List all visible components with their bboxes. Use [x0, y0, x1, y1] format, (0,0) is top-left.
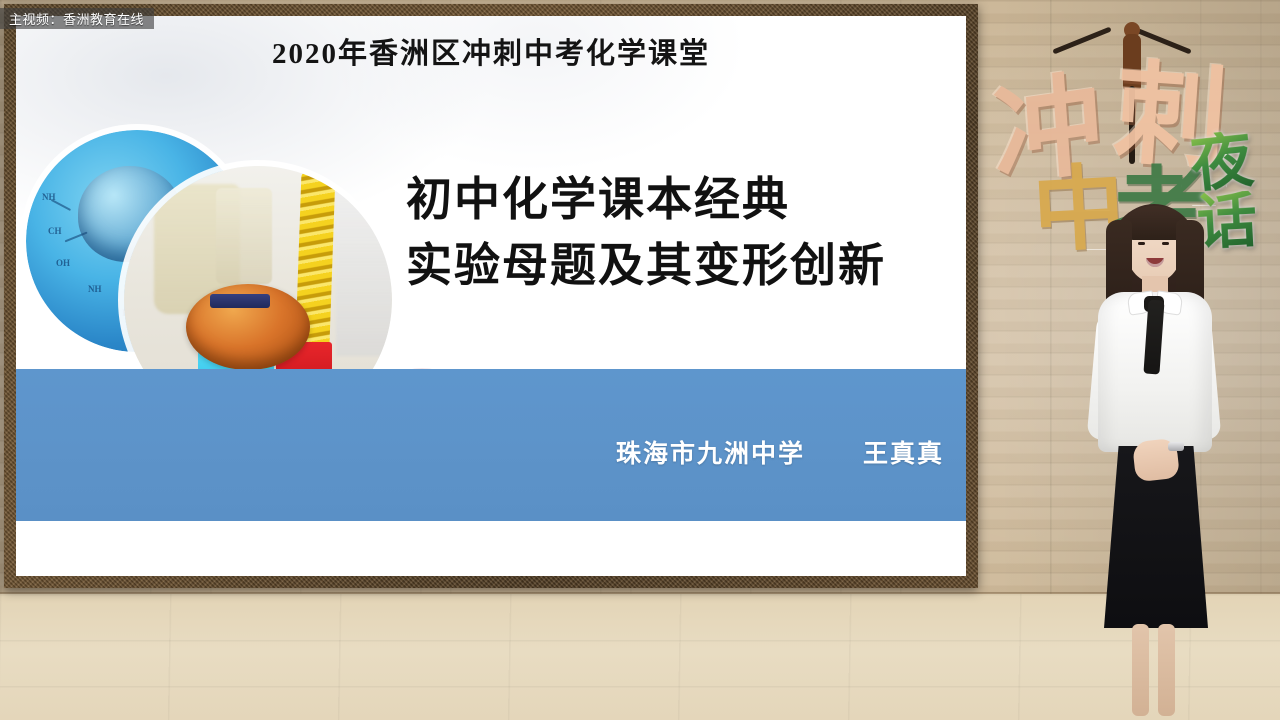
slide-presenter-name: 王真真 — [863, 441, 944, 468]
video-frame: 冲 刺 中 考 夜 话 2020年香洲区冲刺中考化 — [0, 0, 1280, 720]
slide-school-name: 珠海市九洲中学 — [616, 441, 805, 468]
wristwatch-icon — [1168, 442, 1184, 451]
slide-credits: 珠海市九洲中学王真真 — [16, 434, 966, 470]
slide-heading-line-1: 初中化学课本经典 — [406, 173, 790, 225]
slide-header-title: 2020年香洲区冲刺中考化学课堂 — [16, 30, 966, 72]
slide-main-heading: 初中化学课本经典 实验母题及其变形创新 — [406, 166, 966, 298]
wall-art-char-ye: 夜 — [1188, 129, 1256, 197]
slide-heading-line-2: 实验母题及其变形创新 — [406, 232, 966, 298]
presentation-slide: 2020年香洲区冲刺中考化学课堂 NH CH OH C NH OH NH H3C… — [16, 16, 966, 576]
source-label-badge: 主视频：香洲教育在线 — [0, 8, 154, 29]
projection-screen-frame: 2020年香洲区冲刺中考化学课堂 NH CH OH C NH OH NH H3C… — [4, 4, 978, 588]
presenter-figure — [1058, 196, 1248, 720]
